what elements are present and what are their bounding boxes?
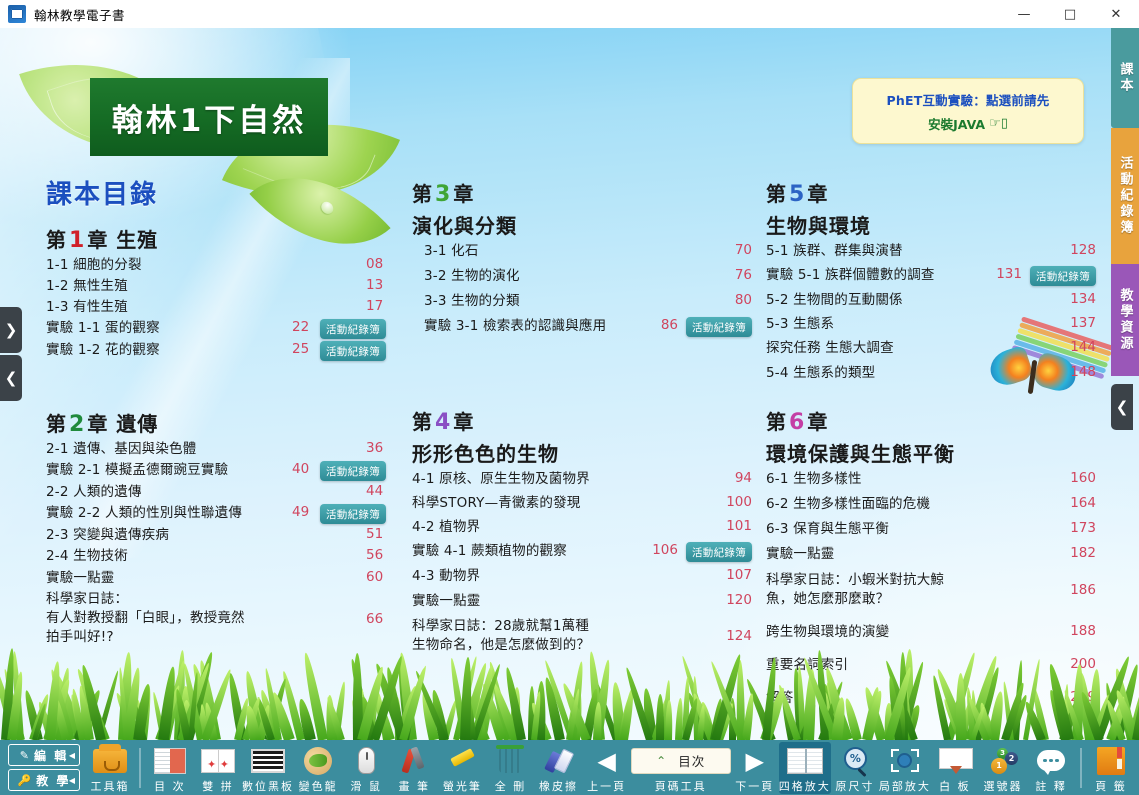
chapter-2-block: 第2章 遺傳 2-1 遺傳、基因與染色體36 實驗 2-1 模擬孟德爾豌豆實驗4…	[46, 408, 386, 649]
activity-record-badge[interactable]: 活動紀錄簿	[320, 461, 386, 481]
toc-row[interactable]: 3-3 生物的分類80	[424, 292, 752, 311]
toc-row-label: 1-3 有性生殖	[46, 298, 128, 317]
toc-row-page: 76	[725, 267, 752, 283]
chapter-4-block: 第4章 形形色色的生物 4-1 原核、原生生物及菌物界94 科學STORY—青黴…	[412, 406, 752, 657]
tool-original-size[interactable]: 原尺寸	[831, 742, 879, 794]
chapter-5-rows: 5-1 族群、群集與演替128 實驗 5-1 族群個體數的調查131活動紀錄簿 …	[766, 242, 1096, 383]
chapter-heading: 第3章	[412, 178, 752, 207]
toc-row-label: 5-2 生物間的互動關係	[766, 291, 903, 310]
toc-row-label: 實驗 2-2 人類的性別與性聯遺傳	[46, 504, 242, 523]
toc-row-label: 6-1 生物多樣性	[766, 470, 862, 489]
toc-row-page: 13	[356, 277, 386, 293]
pen-icon	[401, 746, 427, 776]
toc-row[interactable]: 3-1 化石70	[424, 242, 752, 261]
pointing-hand-icon: ☞▯	[989, 116, 1008, 131]
toc-row-label: 5-4 生態系的類型	[766, 364, 875, 383]
toc-row[interactable]: 科學STORY—青黴素的發現100	[412, 494, 752, 513]
toc-row-label: 實驗 3-1 檢索表的認識與應用	[424, 317, 606, 336]
toc-row-page: 188	[1060, 623, 1096, 639]
toc-row-page: 134	[1060, 291, 1096, 307]
chapter-1-block: 第1章 生殖 1-1 細胞的分裂08 1-2 無性生殖13 1-3 有性生殖17…	[46, 224, 386, 363]
app-icon	[8, 5, 26, 23]
tool-pen[interactable]: 畫 筆	[390, 742, 438, 794]
toc-row-label: 實驗 2-1 模擬孟德爾豌豆實驗	[46, 461, 228, 480]
toc-row[interactable]: 科學家日誌： 有人對教授翻「白眼」，教授竟然 拍手叫好!?66	[46, 590, 386, 647]
water-drop-icon	[319, 199, 336, 216]
toc-row-label: 6-3 保育與生態平衡	[766, 520, 889, 539]
toc-row[interactable]: 4-3 動物界107	[412, 567, 752, 586]
toc-row[interactable]: 實驗 3-1 檢索表的認識與應用86活動紀錄簿	[424, 317, 752, 337]
toc-row-label: 3-3 生物的分類	[424, 292, 520, 311]
toc-row-label: 實驗 1-1 蛋的觀察	[46, 319, 160, 338]
toc-row-page: 107	[716, 567, 752, 583]
grass-decoration	[0, 644, 1139, 740]
toc-row[interactable]: 實驗一點靈60	[46, 569, 386, 588]
toc-row-label: 5-1 族群、群集與演替	[766, 242, 903, 261]
toc-row-label: 科學STORY—青黴素的發現	[412, 494, 581, 513]
toc-row-label: 6-2 生物多樣性面臨的危機	[766, 495, 930, 514]
toc-row-page: 128	[1060, 242, 1096, 258]
trash-icon	[499, 746, 521, 776]
tool-highlighter[interactable]: 螢光筆	[438, 742, 486, 794]
toc-row-label: 2-2 人類的遺傳	[46, 483, 142, 502]
tool-mouse[interactable]: 滑 鼠	[342, 742, 390, 794]
toc-row-page: 100	[716, 494, 752, 510]
toc-row[interactable]: 4-2 植物界101	[412, 518, 752, 537]
chameleon-icon	[304, 746, 332, 776]
dual-page-icon: ✦✦	[201, 746, 235, 776]
original-size-icon	[842, 746, 868, 776]
book-title: 翰林1下自然	[112, 95, 307, 140]
chapter-subtitle: 環境保護與生態平衡	[766, 438, 1096, 467]
tool-page-number[interactable]: ⌃ 目次 頁碼工具	[631, 742, 731, 794]
toc-row-page: 160	[1060, 470, 1096, 486]
toolbox-icon	[93, 746, 127, 776]
tool-whiteboard[interactable]: 白 板	[931, 742, 979, 794]
tool-four-grid-zoom[interactable]: 四格放大	[779, 742, 831, 794]
toc-row-label: 3-2 生物的演化	[424, 267, 520, 286]
toc-row[interactable]: 6-2 生物多樣性面臨的危機164	[766, 495, 1096, 514]
toc-row-label: 2-3 突變與遺傳疾病	[46, 526, 169, 545]
toc-row-page: 86	[651, 317, 678, 333]
toc-row-page: 17	[356, 298, 386, 314]
whiteboard-icon	[939, 746, 971, 776]
highlighter-icon	[448, 746, 476, 776]
toc-row-label: 實驗一點靈	[46, 569, 115, 588]
toc-row-page: 164	[1060, 495, 1096, 511]
toc-row-page: 60	[356, 569, 386, 585]
toc-row[interactable]: 實驗 5-1 族群個體數的調查131活動紀錄簿	[766, 266, 1096, 286]
toc-row[interactable]: 科學家日誌：小蝦米對抗大鯨 魚，她怎麼那麼敢？186	[766, 571, 1096, 609]
toc-row-label: 跨生物與環境的演變	[766, 623, 889, 642]
side-tab-activity-record[interactable]: 活動紀錄簿	[1111, 128, 1139, 264]
toc-row-page: 186	[1060, 582, 1096, 598]
tool-chameleon[interactable]: 變色龍	[294, 742, 342, 794]
toc-row-label: 科學家日誌：小蝦米對抗大鯨 魚，她怎麼那麼敢？	[766, 571, 962, 609]
right-panel-collapse-button[interactable]: ❮	[1111, 384, 1133, 430]
arrow-left-icon: ◀	[597, 746, 615, 776]
chapter-heading: 第5章	[766, 178, 1096, 207]
digital-blackboard-icon	[251, 746, 285, 776]
toc-row-page: 124	[716, 628, 752, 644]
side-tab-teaching-resources[interactable]: 教學資源	[1111, 264, 1139, 376]
chapter-1-rows: 1-1 細胞的分裂08 1-2 無性生殖13 1-3 有性生殖17 實驗 1-1…	[46, 256, 386, 361]
table-of-contents-icon	[154, 746, 186, 776]
chapter-heading: 第4章	[412, 406, 752, 435]
toc-row-page: 94	[725, 470, 752, 486]
left-panel-collapse-button[interactable]: ❮	[0, 355, 22, 401]
number-picker-icon: 321	[988, 746, 1018, 776]
toc-row-page: 80	[725, 292, 752, 308]
maximize-button[interactable]: □	[1047, 0, 1093, 28]
toc-row-page: 56	[356, 547, 386, 563]
phet-notice-banner[interactable]: PhET互動實驗：點選前請先 安裝JAVA ☞▯	[852, 78, 1084, 144]
chapter-2-rows: 2-1 遺傳、基因與染色體36 實驗 2-1 模擬孟德爾豌豆實驗40活動紀錄簿 …	[46, 440, 386, 647]
toolbar-divider	[139, 748, 141, 788]
toc-row-label: 4-3 動物界	[412, 567, 480, 586]
toc-row-page: 137	[1060, 315, 1096, 331]
phet-line-1: PhET互動實驗：點選前請先	[887, 90, 1050, 109]
toc-row[interactable]: 5-1 族群、群集與演替128	[766, 242, 1096, 261]
activity-record-badge[interactable]: 活動紀錄簿	[320, 341, 386, 361]
toc-row[interactable]: 實驗一點靈182	[766, 545, 1096, 564]
toc-row-page: 22	[282, 319, 312, 335]
pencil-icon: ✎	[20, 749, 31, 762]
left-panel-expand-button[interactable]: ❯	[0, 307, 22, 353]
chapter-4-rows: 4-1 原核、原生生物及菌物界94 科學STORY—青黴素的發現100 4-2 …	[412, 470, 752, 655]
local-zoom-icon	[891, 746, 919, 776]
toc-row[interactable]: 2-4 生物技術56	[46, 547, 386, 566]
chevron-up-icon: ⌃	[656, 754, 666, 768]
toc-row-page: 40	[282, 461, 312, 477]
toc-row-page: 173	[1060, 520, 1096, 536]
window-titlebar: 翰林教學電子書 — □ ✕	[0, 0, 1139, 28]
arrow-right-icon: ▶	[746, 746, 764, 776]
toc-row[interactable]: 1-3 有性生殖17	[46, 298, 386, 317]
toc-row[interactable]: 1-1 細胞的分裂08	[46, 256, 386, 275]
tool-digital-blackboard[interactable]: 數位黑板	[242, 742, 294, 794]
activity-record-badge[interactable]: 活動紀錄簿	[320, 504, 386, 524]
chapter-3-block: 第3章 演化與分類 3-1 化石70 3-2 生物的演化76 3-3 生物的分類…	[412, 178, 752, 339]
close-button[interactable]: ✕	[1093, 0, 1139, 28]
toc-row-label: 實驗 4-1 蕨類植物的觀察	[412, 542, 567, 561]
tool-eraser[interactable]: 橡皮擦	[535, 742, 583, 794]
tool-delete-all[interactable]: 全 刪	[486, 742, 534, 794]
toc-row-label: 2-4 生物技術	[46, 547, 128, 566]
bottom-toolbar: ✎ 編 輯 🔑 教 學 工具箱 目 次 ✦✦ 雙 拼 數位黑板 變	[0, 740, 1139, 795]
annotation-icon	[1037, 746, 1065, 776]
activity-record-badge[interactable]: 活動紀錄簿	[320, 319, 386, 339]
toc-row[interactable]: 6-3 保育與生態平衡173	[766, 520, 1096, 539]
tool-previous-page[interactable]: ◀ 上一頁	[583, 742, 631, 794]
toc-row[interactable]: 實驗 2-1 模擬孟德爾豌豆實驗40活動紀錄簿	[46, 461, 386, 481]
toc-row-page: 49	[282, 504, 312, 520]
chapter-heading: 第6章	[766, 406, 1096, 435]
toc-row[interactable]: 實驗 2-2 人類的性別與性聯遺傳49活動紀錄簿	[46, 504, 386, 524]
toc-row-page: 25	[282, 341, 312, 357]
toc-row[interactable]: 3-2 生物的演化76	[424, 267, 752, 286]
teach-mode-button[interactable]: 🔑 教 學	[8, 769, 80, 791]
tool-annotation[interactable]: 註 釋	[1027, 742, 1075, 794]
chapter-5-block: 第5章 生物與環境 5-1 族群、群集與演替128 實驗 5-1 族群個體數的調…	[766, 178, 1096, 388]
toc-row[interactable]: 5-3 生態系137	[766, 315, 1096, 334]
toc-row-label: 1-2 無性生殖	[46, 277, 128, 296]
window-controls: — □ ✕	[1001, 0, 1139, 28]
toc-row[interactable]: 2-2 人類的遺傳44	[46, 483, 386, 502]
toc-row-page: 144	[1060, 339, 1096, 355]
side-tab-textbook[interactable]: 課本	[1111, 28, 1139, 128]
toc-row[interactable]: 2-3 突變與遺傳疾病51	[46, 526, 386, 545]
chapter-heading: 第2章 遺傳	[46, 408, 386, 437]
page-title: 課本目錄	[46, 174, 158, 211]
toc-row-label: 5-3 生態系	[766, 315, 834, 334]
toc-row-page: 70	[725, 242, 752, 258]
toc-row-label: 實驗一點靈	[766, 545, 835, 564]
toc-row-page: 44	[356, 483, 386, 499]
toc-row-label: 1-1 細胞的分裂	[46, 256, 142, 275]
activity-record-badge[interactable]: 活動紀錄簿	[686, 542, 752, 562]
eraser-icon	[546, 746, 572, 776]
phet-line-2: 安裝JAVA ☞▯	[928, 114, 1008, 133]
toc-row-page: 36	[356, 440, 386, 456]
toc-row-page: 101	[716, 518, 752, 534]
toc-row[interactable]: 6-1 生物多樣性160	[766, 470, 1096, 489]
toc-row-label: 4-2 植物界	[412, 518, 480, 537]
toc-row[interactable]: 探究任務 生態大調查144	[766, 339, 1096, 358]
toc-row[interactable]: 5-2 生物間的互動關係134	[766, 291, 1096, 310]
toc-row-page: 08	[356, 256, 386, 272]
activity-record-badge[interactable]: 活動紀錄簿	[1030, 266, 1096, 286]
toc-row-page: 148	[1060, 364, 1096, 380]
toc-row-label: 科學家日誌： 有人對教授翻「白眼」，教授竟然 拍手叫好!?	[46, 590, 254, 647]
page-number-input[interactable]: ⌃ 目次	[631, 748, 731, 774]
toc-row-label: 2-1 遺傳、基因與染色體	[46, 440, 196, 459]
toc-row[interactable]: 實驗 1-1 蛋的觀察22活動紀錄簿	[46, 319, 386, 339]
magnifier-icon: 🔑	[18, 774, 34, 787]
mode-switch-group: ✎ 編 輯 🔑 教 學	[8, 744, 80, 791]
book-title-box: 翰林1下自然	[90, 78, 328, 156]
window-title: 翰林教學電子書	[34, 5, 125, 24]
toc-row-page: 106	[642, 542, 678, 558]
activity-record-badge[interactable]: 活動紀錄簿	[686, 317, 752, 337]
toc-row-page: 66	[356, 611, 386, 627]
toc-row[interactable]: 5-4 生態系的類型148	[766, 364, 1096, 383]
tool-table-of-contents[interactable]: 目 次	[146, 742, 194, 794]
toc-row-label: 實驗一點靈	[412, 592, 481, 611]
tool-page-album[interactable]: 頁 籤	[1087, 742, 1135, 794]
tool-toolbox[interactable]: 工具箱	[86, 742, 134, 794]
toc-row-label: 實驗 5-1 族群個體數的調查	[766, 266, 935, 285]
chapter-heading: 第1章 生殖	[46, 224, 386, 253]
toc-row[interactable]: 4-1 原核、原生生物及菌物界94	[412, 470, 752, 489]
tool-number-picker[interactable]: 321 選號器	[979, 742, 1027, 794]
toc-row-label: 探究任務 生態大調查	[766, 339, 894, 358]
toc-row-page: 131	[986, 266, 1022, 282]
toc-row-page: 182	[1060, 545, 1096, 561]
toolbar-divider	[1080, 748, 1082, 788]
four-grid-zoom-icon	[787, 746, 823, 776]
toc-row[interactable]: 2-1 遺傳、基因與染色體36	[46, 440, 386, 459]
chapter-subtitle: 形形色色的生物	[412, 438, 752, 467]
toc-row-label: 實驗 1-2 花的觀察	[46, 341, 160, 360]
toc-row-label: 4-1 原核、原生生物及菌物界	[412, 470, 590, 489]
toc-row-label: 3-1 化石	[424, 242, 479, 261]
tool-next-page[interactable]: ▶ 下一頁	[731, 742, 779, 794]
page-album-icon	[1097, 746, 1125, 776]
chapter-subtitle: 演化與分類	[412, 210, 752, 239]
book-page: 翰林1下自然 課本目錄 PhET互動實驗：點選前請先 安裝JAVA ☞▯ 第1章…	[0, 28, 1139, 740]
page-number-value: 目次	[678, 751, 705, 770]
toc-row[interactable]: 實驗 4-1 蕨類植物的觀察106活動紀錄簿	[412, 542, 752, 562]
tool-dual-page[interactable]: ✦✦ 雙 拼	[194, 742, 242, 794]
edit-mode-button[interactable]: ✎ 編 輯	[8, 744, 80, 766]
minimize-button[interactable]: —	[1001, 0, 1047, 28]
chapter-3-rows: 3-1 化石70 3-2 生物的演化76 3-3 生物的分類80 實驗 3-1 …	[424, 242, 752, 337]
side-tab-strip: 課本 活動紀錄簿 教學資源	[1111, 28, 1139, 383]
toc-row[interactable]: 實驗 1-2 花的觀察25活動紀錄簿	[46, 341, 386, 361]
mouse-icon	[358, 746, 375, 776]
toc-row[interactable]: 跨生物與環境的演變188	[766, 623, 1096, 642]
chapter-subtitle: 生物與環境	[766, 210, 1096, 239]
tool-local-zoom[interactable]: 局部放大	[879, 742, 931, 794]
toc-row-page: 120	[716, 592, 752, 608]
toc-row[interactable]: 實驗一點靈120	[412, 592, 752, 611]
toc-row-page: 51	[356, 526, 386, 542]
toc-row[interactable]: 1-2 無性生殖13	[46, 277, 386, 296]
